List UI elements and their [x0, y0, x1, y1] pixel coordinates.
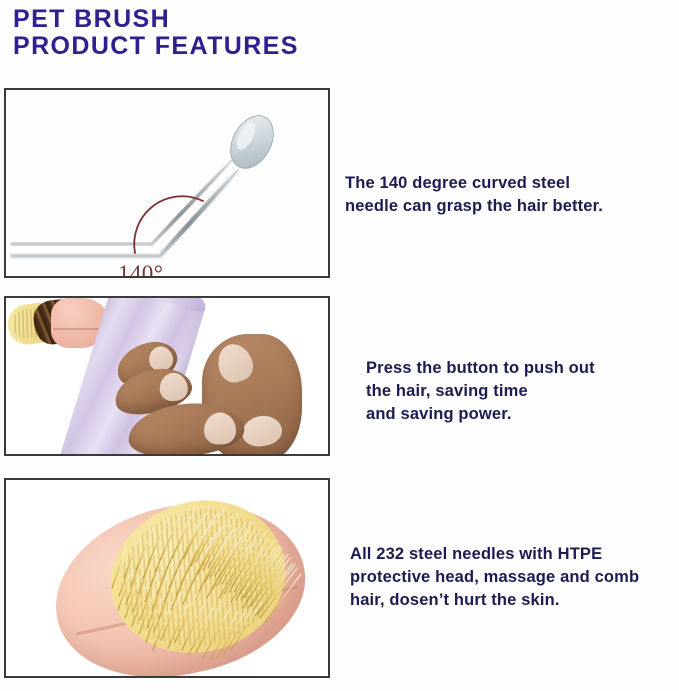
- page-title-line-2: PRODUCT FEATURES: [13, 33, 613, 60]
- thumb-nail: [213, 340, 257, 387]
- bent-steel-needle-diagram: 140°: [6, 90, 328, 276]
- lower-finger-nail: [240, 413, 285, 449]
- handle-top-cap: [112, 296, 208, 313]
- photo-crop-edge: [310, 298, 328, 454]
- page-title-line-1: PET BRUSH: [13, 6, 613, 33]
- feature-panel-needle-angle: 140°: [4, 88, 330, 278]
- feature-caption-push-button: Press the button to push out the hair, s…: [366, 357, 676, 426]
- page-title: PET BRUSH PRODUCT FEATURES: [13, 6, 613, 60]
- steel-needles-group: [92, 482, 322, 678]
- needle-illustration-svg: [6, 90, 328, 276]
- hand-pressing-button-photo: [6, 298, 328, 454]
- feature-caption-steel-needles: All 232 steel needles with HTPE protecti…: [350, 543, 678, 612]
- pink-brush-with-steel-needles-photo: [6, 480, 328, 676]
- feature-panel-push-button: [4, 296, 330, 456]
- angle-label: 140°: [118, 261, 163, 278]
- ring-finger-nail: [204, 412, 236, 444]
- feature-panel-steel-needles: [4, 478, 330, 678]
- feature-caption-needle-angle: The 140 degree curved steel needle can g…: [345, 172, 675, 218]
- middle-finger-nail: [159, 372, 189, 402]
